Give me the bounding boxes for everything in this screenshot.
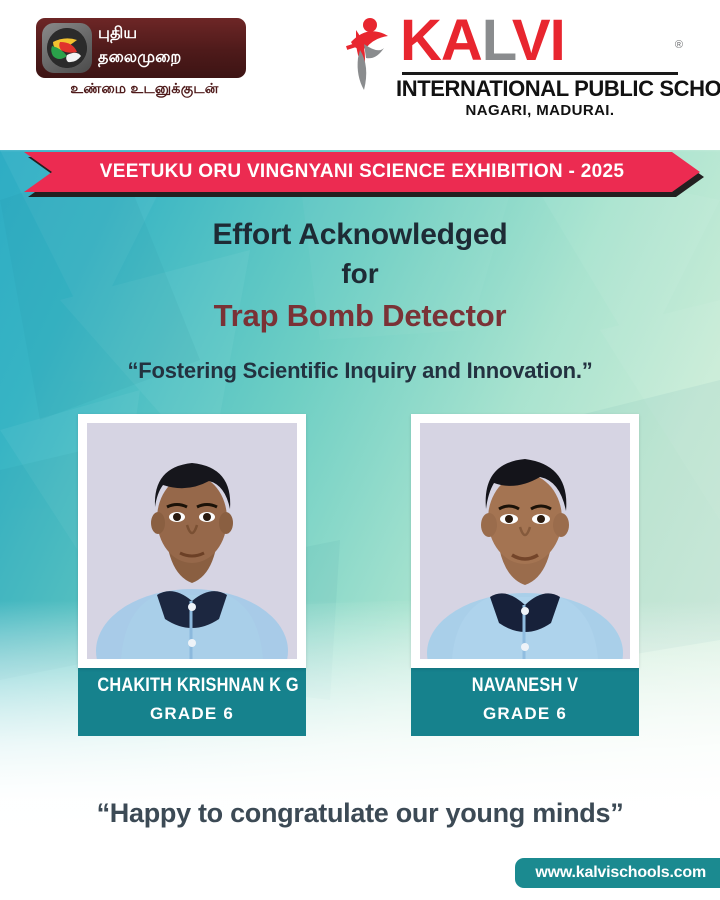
logo-tagline: உண்மை உடனுக்குடன் (42, 80, 247, 99)
logo-badge (42, 23, 92, 73)
project-title: Trap Bomb Detector (0, 298, 720, 334)
kalvi-school-logo: KALVI® INTERNATIONAL PUBLIC SCHOOL NAGAR… (336, 10, 696, 128)
event-ribbon: VEETUKU ORU VINGNYANI SCIENCE EXHIBITION… (24, 152, 700, 194)
ribbon-title: VEETUKU ORU VINGNYANI SCIENCE EXHIBITION… (100, 161, 624, 183)
student-name-bar: NAVANESH V (411, 668, 639, 702)
logo-swirl-icon (47, 28, 87, 68)
student-name-bar: CHAKITH KRISHNAN K G (78, 668, 306, 702)
kalvi-word-ka: KA (400, 8, 482, 73)
photo-frame (411, 414, 639, 668)
photo-frame (78, 414, 306, 668)
student-grade-bar: GRADE 6 (78, 702, 306, 736)
logo-plate: புதிய தலைமுறை (36, 18, 246, 78)
student-name: CHAKITH KRISHNAN K G (97, 675, 286, 697)
closing-message: “Happy to congratulate our young minds” (0, 798, 720, 829)
running-figure-icon (344, 14, 398, 92)
certificate-poster: புதிய தலைமுறை உண்மை உடனுக்குடன் KALVI® I… (0, 0, 720, 900)
kalvi-word-vi: VI (512, 8, 565, 73)
student-grade: GRADE 6 (483, 704, 567, 723)
student-card: NAVANESH V GRADE 6 (411, 414, 639, 736)
puthiya-thalaimurai-logo: புதிய தலைமுறை உண்மை உடனுக்குடன் (36, 18, 256, 108)
student-photo (87, 423, 297, 659)
kalvi-location: NAGARI, MADURAI. (396, 102, 684, 119)
kalvi-subtitle: INTERNATIONAL PUBLIC SCHOOL (396, 76, 684, 102)
for-connector: for (0, 258, 720, 290)
kalvi-divider (402, 72, 678, 75)
poster-header: புதிய தலைமுறை உண்மை உடனுக்குடன் KALVI® I… (0, 0, 720, 140)
student-grade-bar: GRADE 6 (411, 702, 639, 736)
website-footer[interactable]: www.kalvischools.com (515, 858, 720, 888)
student-name: NAVANESH V (430, 675, 619, 697)
ribbon-banner: VEETUKU ORU VINGNYANI SCIENCE EXHIBITION… (24, 152, 700, 192)
student-cards: CHAKITH KRISHNAN K G GRADE 6 (0, 414, 720, 760)
kalvi-wordmark: KALVI® (400, 10, 680, 72)
kalvi-word-l: L (482, 8, 512, 73)
student-photo (420, 423, 630, 659)
logo-tamil-line2: தலைமுறை (98, 46, 242, 70)
student-grade: GRADE 6 (150, 704, 234, 723)
logo-tamil-title: புதிய தலைமுறை (98, 22, 242, 74)
website-url[interactable]: www.kalvischools.com (535, 864, 706, 882)
student-card: CHAKITH KRISHNAN K G GRADE 6 (78, 414, 306, 736)
theme-quote: “Fostering Scientific Inquiry and Innova… (0, 358, 720, 384)
logo-tamil-line1: புதிய (98, 22, 242, 46)
effort-heading: Effort Acknowledged (0, 218, 720, 252)
registered-trademark-icon: ® (675, 14, 682, 76)
